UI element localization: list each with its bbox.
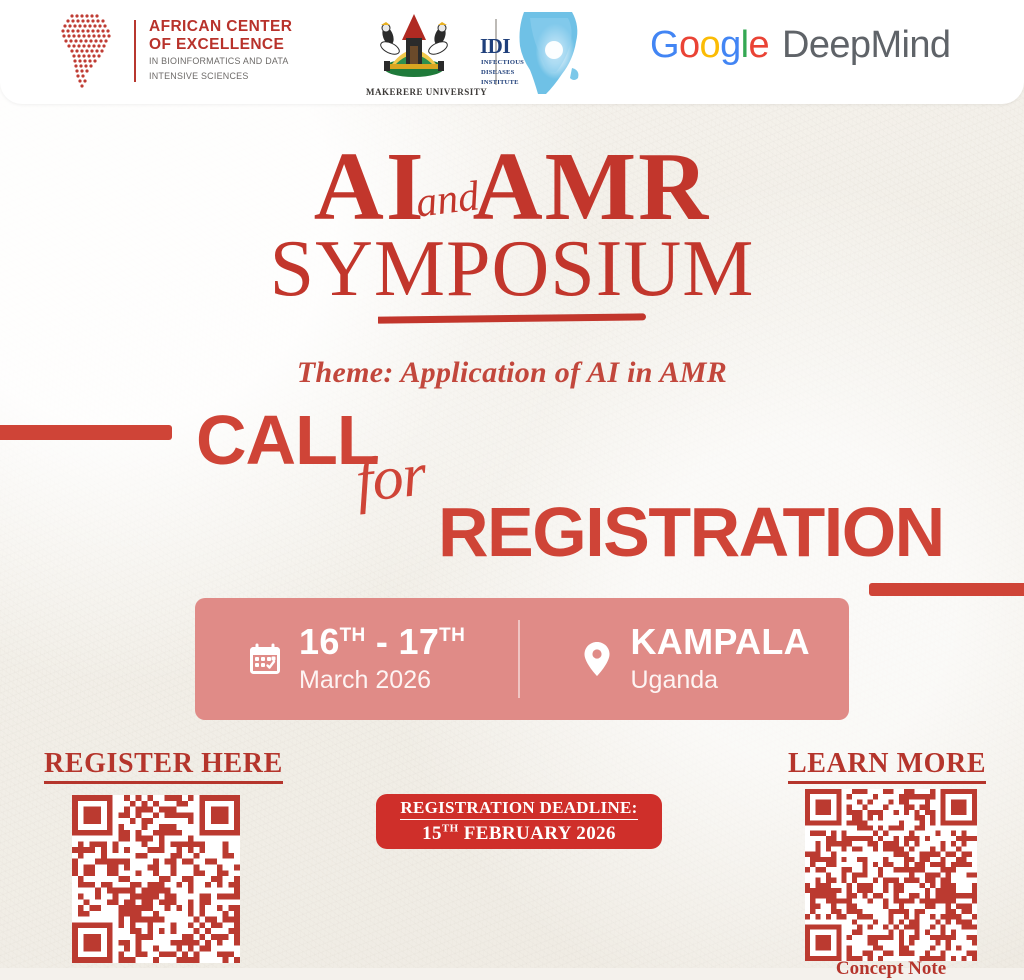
decorative-bar-right bbox=[869, 583, 1024, 596]
deepmind-wordmark: DeepMind bbox=[782, 24, 950, 67]
google-letter-g1: G bbox=[650, 24, 679, 66]
idi-sub-line-3: INSTITUTE bbox=[481, 78, 524, 88]
date-day-from-suffix: TH bbox=[340, 625, 366, 646]
makerere-coat-of-arms-icon bbox=[366, 6, 462, 80]
deadline-day-suffix: TH bbox=[442, 822, 459, 834]
decorative-bar-left bbox=[0, 425, 172, 440]
call-for-registration-block: CALL for REGISTRATION bbox=[0, 405, 1024, 575]
registration-word: REGISTRATION bbox=[438, 497, 944, 567]
title-word-ai: AI bbox=[314, 133, 426, 240]
title-word-and: and bbox=[413, 176, 480, 224]
theme-text: Theme: Application of AI in AMR bbox=[0, 356, 1024, 390]
learn-more-heading[interactable]: LEARN MORE bbox=[788, 748, 986, 784]
idi-wordmark: IDI bbox=[480, 34, 510, 59]
date-day-from: 16 bbox=[299, 621, 340, 662]
calendar-icon bbox=[243, 641, 287, 677]
date-day-to-suffix: TH bbox=[439, 625, 465, 646]
sponsor-logo-band: AFRICAN CENTER OF EXCELLENCE IN BIOINFOR… bbox=[0, 0, 1024, 104]
learn-more-caption: Concept Note bbox=[805, 958, 977, 980]
dotted-africa-map-icon bbox=[52, 10, 122, 92]
date-location-banner: 16TH - 17TH March 2026 KAMPALA Uganda bbox=[195, 598, 849, 720]
google-letter-o2: o bbox=[700, 24, 721, 66]
title-line-ai-and-amr: AIandAMR bbox=[314, 140, 710, 233]
google-letter-g2: g bbox=[720, 24, 741, 66]
deadline-day: 15 bbox=[422, 823, 442, 844]
date-day-to: 17 bbox=[399, 621, 440, 662]
title-word-symposium: SYMPOSIUM bbox=[0, 229, 1024, 309]
date-separator: - bbox=[376, 621, 388, 662]
idi-subtitle: INFECTIOUS DISEASES INSTITUTE bbox=[481, 58, 524, 88]
title-word-amr: AMR bbox=[473, 133, 711, 240]
idi-sub-line-1: INFECTIOUS bbox=[481, 58, 524, 68]
google-wordmark: Google bbox=[650, 24, 769, 67]
date-cell: 16TH - 17TH March 2026 bbox=[195, 623, 518, 695]
ace-logo-divider bbox=[134, 20, 136, 82]
event-month-year: March 2026 bbox=[299, 665, 465, 695]
registration-deadline-badge: REGISTRATION DEADLINE: 15TH FEBRUARY 202… bbox=[376, 794, 662, 849]
event-city: KAMPALA bbox=[631, 623, 810, 660]
ace-line-1: AFRICAN CENTER bbox=[149, 18, 294, 36]
title-underline-swoosh bbox=[378, 313, 646, 323]
event-title: AIandAMR SYMPOSIUM bbox=[0, 140, 1024, 322]
deadline-date: 15TH FEBRUARY 2026 bbox=[422, 822, 616, 846]
register-here-qr-code[interactable] bbox=[72, 795, 240, 963]
event-date-range: 16TH - 17TH bbox=[299, 623, 465, 660]
makerere-caption: MAKERERE UNIVERSITY bbox=[366, 87, 487, 97]
learn-more-qr-code[interactable] bbox=[805, 789, 977, 961]
call-word: CALL bbox=[196, 405, 379, 475]
ace-line-2: OF EXCELLENCE bbox=[149, 36, 294, 54]
idi-sub-line-2: DISEASES bbox=[481, 68, 524, 78]
deadline-month-year: FEBRUARY 2026 bbox=[464, 823, 616, 844]
google-letter-o1: o bbox=[679, 24, 700, 66]
event-country: Uganda bbox=[631, 665, 810, 695]
ace-line-3: IN BIOINFORMATICS AND DATA bbox=[149, 55, 289, 69]
google-letter-e: e bbox=[748, 24, 769, 66]
deadline-label: REGISTRATION DEADLINE: bbox=[400, 798, 637, 820]
logo-african-center-of-excellence: AFRICAN CENTER OF EXCELLENCE IN BIOINFOR… bbox=[52, 8, 294, 94]
for-word: for bbox=[352, 440, 428, 518]
location-pin-icon bbox=[575, 640, 619, 678]
ace-line-4: INTENSIVE SCIENCES bbox=[149, 70, 289, 84]
location-cell: KAMPALA Uganda bbox=[520, 623, 850, 695]
logo-infectious-diseases-institute: IDI INFECTIOUS DISEASES INSTITUTE bbox=[480, 8, 598, 96]
register-here-heading[interactable]: REGISTER HERE bbox=[44, 748, 283, 784]
logo-google-deepmind: Google DeepMind bbox=[650, 24, 950, 67]
